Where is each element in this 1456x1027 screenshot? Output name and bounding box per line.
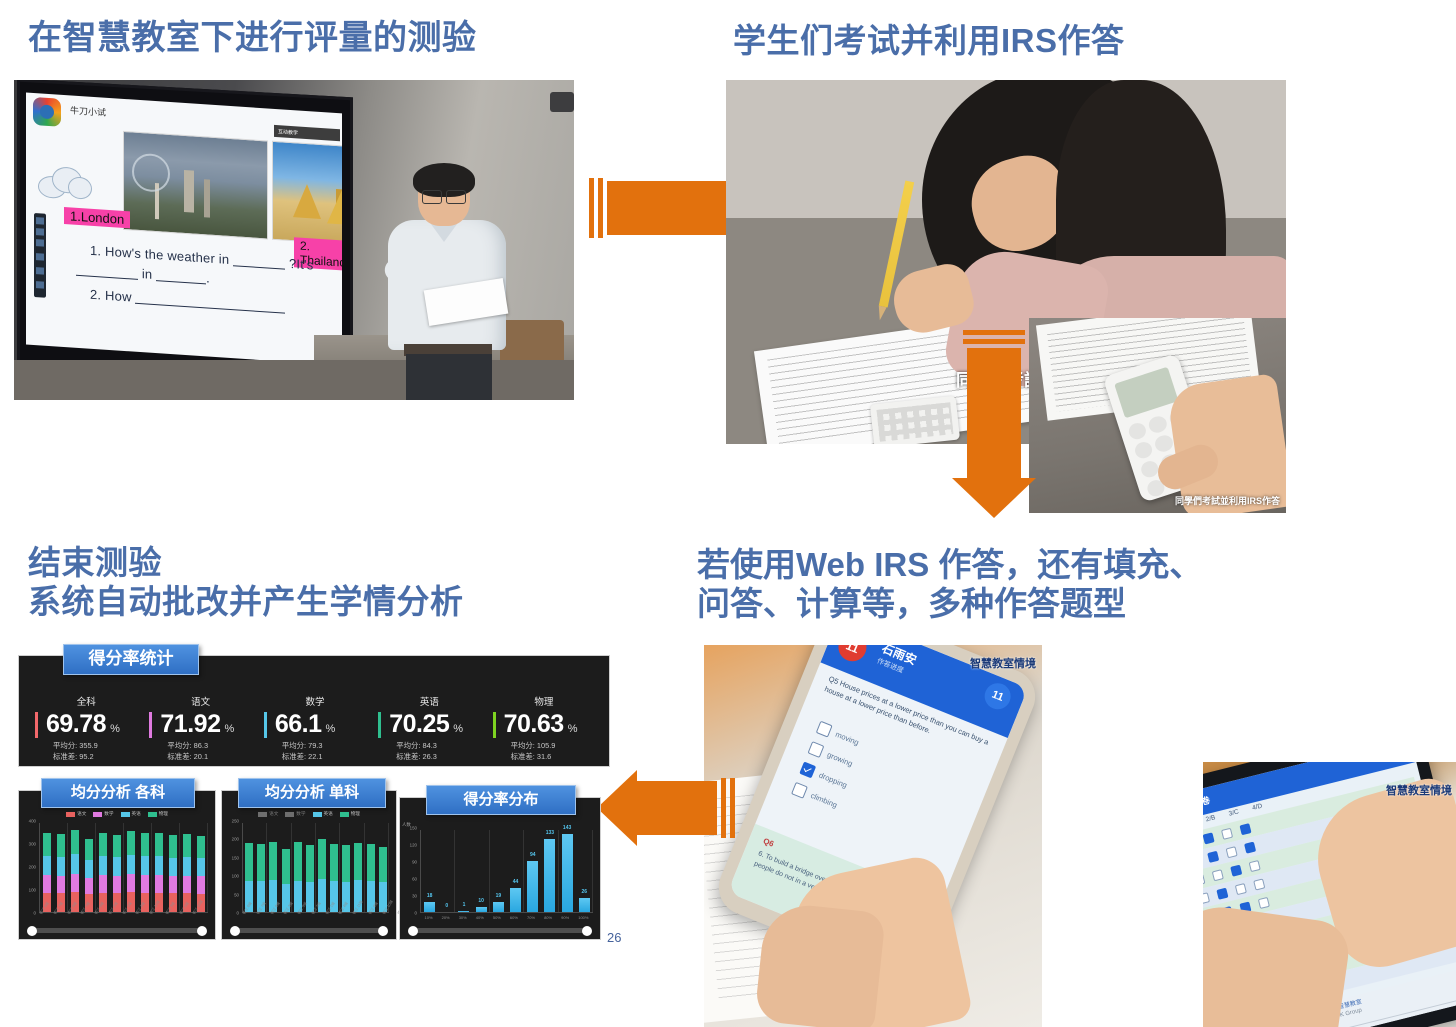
bar-value-label: 19: [496, 893, 502, 899]
bar-segment: [85, 878, 93, 894]
stat-subject: 数学: [258, 694, 372, 708]
dashboard-title: 得分率统计: [63, 644, 199, 675]
question-1-line-b: in .: [76, 262, 210, 286]
arrow-down-right: [952, 330, 1036, 518]
bar-segment: [127, 855, 135, 874]
bar-segment: [183, 857, 191, 876]
legend-label: 语文: [77, 811, 86, 817]
stat-color-tick: [378, 712, 381, 738]
stat-value-row: 71.92%: [143, 710, 257, 739]
answer-checked-icon[interactable]: [1239, 823, 1251, 835]
option-label: growing: [826, 750, 854, 768]
slider-handle-left[interactable]: [408, 926, 418, 936]
legend-swatch: [93, 812, 102, 817]
option-label: dropping: [818, 770, 849, 789]
slider-handle-right[interactable]: [378, 926, 388, 936]
bar-segment: [197, 836, 205, 858]
legend-item[interactable]: 英语: [313, 811, 333, 817]
legend-item[interactable]: 语文: [66, 811, 86, 817]
range-slider[interactable]: [412, 928, 588, 933]
bar-value-label: 18: [427, 893, 433, 899]
stat-rate: 70.25: [389, 710, 449, 739]
slide-canvas: 在智慧教室下进行评量的测验 学生们考试并利用IRS作答 结束测验 系统自动批改并…: [0, 0, 1456, 1027]
y-tick-label: 150: [232, 855, 239, 860]
y-tick-label: 50: [234, 892, 239, 897]
bar-value-label: 94: [530, 852, 536, 858]
histogram-bar: 143: [562, 834, 573, 912]
photo-clicker-caption: 同學們考試並利用IRS作答: [1175, 494, 1280, 507]
legend-label: 英语: [324, 811, 333, 817]
chart-panel-single-subject: 均分分析 单科 语文数学英语物理 050100150200250 初三 6班初三…: [221, 790, 397, 940]
y-tick-label: 120: [410, 843, 417, 848]
stat-color-tick: [493, 712, 496, 738]
bar-value-label: 1: [463, 902, 466, 908]
bar-series: [243, 823, 389, 912]
bar-segment: [155, 856, 163, 875]
bar-segment: [367, 844, 375, 881]
answer-checkbox-icon[interactable]: [1258, 896, 1270, 908]
column-header: 2/B: [1205, 814, 1216, 823]
page-number: 26: [607, 930, 621, 945]
legend-item[interactable]: 英语: [121, 811, 141, 817]
page-title-top-left: 在智慧教室下进行评量的测验: [28, 18, 477, 58]
board-toolbar[interactable]: [34, 213, 46, 298]
next-question-number: Q6: [762, 836, 775, 848]
chart-legend[interactable]: 语文数学英语物理: [19, 811, 215, 817]
legend-swatch: [340, 812, 349, 817]
stat-detail: 平均分: 79.3标准差: 22.1: [282, 741, 372, 762]
arrow-tail-bars: [721, 778, 735, 838]
bar-segment: [99, 833, 107, 856]
board-title: 牛刀小试: [70, 103, 106, 118]
stat-rate: 66.1: [275, 710, 322, 739]
answer-checked-icon[interactable]: [1230, 864, 1242, 876]
arrow-tail-bars: [589, 178, 603, 238]
bar-segment: [257, 844, 265, 881]
stat-percent-symbol: %: [568, 723, 578, 735]
histogram-bar: 94: [527, 861, 538, 912]
y-tick-label: 200: [232, 837, 239, 842]
slider-handle-left[interactable]: [27, 926, 37, 936]
bar: [354, 823, 362, 912]
bar-segment: [294, 842, 302, 880]
bar-segment: [197, 876, 205, 893]
answer-checkbox-icon[interactable]: [1203, 892, 1210, 904]
bar-segment: [43, 875, 51, 893]
histogram-bar: 10: [476, 907, 487, 912]
bar-segment: [169, 835, 177, 858]
bar: [71, 823, 79, 912]
legend-item[interactable]: 物理: [340, 811, 360, 817]
bar-value-label: 133: [546, 830, 554, 836]
bar-segment: [43, 856, 51, 875]
bar: [269, 823, 277, 912]
histogram-bar: 18: [424, 902, 435, 912]
bar: [141, 823, 149, 912]
photo-classroom-teacher: 牛刀小试 互动教学 1.London 2. Thailand 1. How's …: [14, 80, 574, 400]
bar-segment: [183, 876, 191, 894]
arrow-shaft: [637, 781, 717, 835]
option-label: moving: [834, 730, 860, 748]
chart-title-distribution: 得分率分布: [426, 785, 576, 815]
blank-4: [135, 303, 285, 314]
bar-segment: [85, 839, 93, 861]
stat-rate: 69.78: [46, 710, 106, 739]
y-tick-label: 100: [29, 888, 36, 893]
legend-swatch: [66, 812, 75, 817]
bar-segment: [141, 875, 149, 893]
bar-segment: [57, 857, 65, 876]
plot-area: [242, 823, 389, 913]
x-tick-label: 70%: [527, 915, 535, 925]
question-2-line: 2. How: [90, 287, 285, 315]
legend-label: 物理: [159, 811, 168, 817]
stat-subject: 英语: [372, 694, 486, 708]
stat-color-tick: [35, 712, 38, 738]
bar-series: [40, 823, 208, 912]
bar: [257, 823, 265, 912]
histogram-bar: 19: [493, 902, 504, 912]
bar-segment: [269, 842, 277, 880]
bar-segment: [99, 856, 107, 875]
stat-percent-symbol: %: [453, 723, 463, 735]
x-tick-label: 50%: [493, 915, 501, 925]
legend-swatch: [313, 812, 322, 817]
y-tick-label: 100: [232, 874, 239, 879]
legend-label: 英语: [132, 811, 141, 817]
option-label: climbing: [809, 791, 838, 810]
x-axis-labels: 初三 6班初三 7班初三 8班初三 7班初三 9班初三 2班初三 1班初三 4班…: [39, 913, 208, 927]
bar-value-label: 0: [445, 903, 448, 909]
x-tick-label: 90%: [561, 915, 569, 925]
stat-value-row: 70.63%: [487, 710, 601, 739]
column-header: 4/D: [1251, 803, 1263, 812]
answer-checkbox-icon[interactable]: [1249, 860, 1261, 872]
y-axis-labels: 050100150200250: [222, 821, 240, 913]
stat-list: 全科69.78%平均分: 355.9标准差: 95.2语文71.92%平均分: …: [29, 694, 601, 762]
blank-2: [76, 275, 138, 280]
stat-value-row: 69.78%: [29, 710, 143, 739]
page-title-bottom-right: 若使用Web IRS 作答，还有填充、 问答、计算等，多种作答题型: [697, 546, 1202, 624]
page-title-top-right: 学生们考试并利用IRS作答: [733, 22, 1125, 61]
legend-item[interactable]: 物理: [148, 811, 168, 817]
thumb-tapping: [754, 901, 886, 1027]
blank-3: [156, 280, 206, 284]
photo-quiz-watermark: 智慧教室情境: [970, 655, 1036, 671]
bar: [113, 823, 121, 912]
answer-checked-icon[interactable]: [1216, 887, 1228, 899]
answer-checked-icon[interactable]: [1203, 832, 1215, 844]
bar-segment: [71, 830, 79, 854]
bar: [57, 823, 65, 912]
arrow-tail-bars: [963, 330, 1025, 344]
answer-checkbox-icon[interactable]: [1225, 846, 1237, 858]
stat-block: 物理70.63%平均分: 105.9标准差: 31.6: [487, 694, 601, 762]
bar-value-label: 10: [478, 898, 484, 904]
y-tick-label: 150: [410, 826, 417, 831]
bar-segment: [57, 876, 65, 894]
bar-segment: [379, 847, 387, 882]
checkbox-icon[interactable]: [791, 782, 808, 799]
chart-title-all-subjects: 均分分析 各科: [41, 778, 195, 808]
stat-rate: 71.92: [160, 710, 220, 739]
arrow-shaft: [967, 348, 1021, 478]
bar-segment: [330, 844, 338, 881]
photo-thailand: [272, 141, 342, 250]
bar: [169, 823, 177, 912]
histogram-bars: 18011019449413314326: [421, 830, 593, 912]
histogram-bar: 44: [510, 888, 521, 912]
irs-clicker-device: [870, 396, 960, 444]
tag-london: 1.London: [64, 207, 130, 228]
stat-detail: 平均分: 86.3标准差: 20.1: [167, 741, 257, 762]
hand-holding-clicker: [1166, 373, 1286, 513]
answer-checked-icon[interactable]: [1244, 841, 1256, 853]
stat-subject: 全科: [29, 694, 143, 708]
legend-swatch: [148, 812, 157, 817]
bar: [197, 823, 205, 912]
y-tick-label: 200: [29, 865, 36, 870]
bar-value-label: 26: [582, 889, 588, 895]
legend-item[interactable]: 语文: [258, 811, 278, 817]
bar: [306, 823, 314, 912]
x-axis-labels: 10%20%30%40%50%60%70%80%90%100%: [420, 915, 593, 925]
photo-phone-quiz: 11 石雨安 作答进度 11 Q5 House prices at a lowe…: [704, 645, 1042, 1027]
bar-segment: [141, 833, 149, 856]
legend-item[interactable]: 数学: [285, 811, 305, 817]
bar: [43, 823, 51, 912]
chart-title-single-subject: 均分分析 单科: [238, 778, 386, 808]
bar-segment: [71, 874, 79, 893]
stat-subject: 物理: [487, 694, 601, 708]
board-tab-label: 互动教学: [278, 128, 298, 136]
stat-color-tick: [264, 712, 267, 738]
bar: [183, 823, 191, 912]
bar-segment: [318, 839, 326, 879]
range-slider[interactable]: [234, 928, 384, 933]
y-tick-label: 30: [412, 894, 417, 899]
histogram-bar: 26: [579, 898, 590, 912]
photo-london: [123, 131, 268, 240]
clicker-lcd: [1114, 367, 1178, 419]
legend-label: 数学: [296, 811, 305, 817]
bar-segment: [141, 856, 149, 875]
stat-detail: 平均分: 84.3标准差: 26.3: [396, 741, 486, 762]
x-tick-label: 30%: [459, 915, 467, 925]
stat-subject: 语文: [143, 694, 257, 708]
stat-value-row: 70.25%: [372, 710, 486, 739]
bar-segment: [155, 875, 163, 893]
stat-block: 数学66.1%平均分: 79.3标准差: 22.1: [258, 694, 372, 762]
photo-phone-answer-card: 答题卡 答题卷 1/A 2/B 3/C 4/D Q1Q2Q3Q4Q5Q6Q7Q8…: [1203, 762, 1456, 1027]
bar: [342, 823, 350, 912]
bar-value-label: 143: [563, 825, 571, 831]
bar-segment: [342, 845, 350, 882]
bar-segment: [155, 833, 163, 856]
column-header: 3/C: [1228, 808, 1240, 817]
legend-swatch: [258, 812, 267, 817]
bar-segment: [197, 858, 205, 876]
range-slider[interactable]: [31, 928, 203, 933]
cloud-icon: [38, 163, 92, 201]
answer-checkbox-icon[interactable]: [1235, 883, 1247, 895]
x-tick-label: 80%: [544, 915, 552, 925]
bar-segment: [169, 876, 177, 893]
bar-segment: [183, 834, 191, 857]
y-tick-label: 300: [29, 842, 36, 847]
plot-area: 18011019449413314326: [420, 830, 593, 913]
stat-percent-symbol: %: [110, 723, 120, 735]
bar-segment: [99, 875, 107, 893]
bar-segment: [169, 858, 177, 876]
bar-segment: [113, 835, 121, 858]
stat-percent-symbol: %: [325, 723, 335, 735]
photo-card-watermark: 智慧教室情境: [1386, 782, 1452, 798]
y-tick-label: 0: [237, 911, 239, 916]
stat-detail: 平均分: 355.9标准差: 95.2: [53, 741, 143, 762]
bar: [127, 823, 135, 912]
y-tick-label: 0: [415, 911, 417, 916]
checkbox-icon[interactable]: [816, 721, 833, 738]
bar: [99, 823, 107, 912]
legend-label: 物理: [351, 811, 360, 817]
chart-panel-distribution: 得分率分布 人数 0306090120150 18011019449413314…: [399, 797, 601, 940]
question-1-in: in: [142, 266, 153, 282]
app-logo-icon: [33, 97, 61, 127]
stat-block: 语文71.92%平均分: 86.3标准差: 20.1: [143, 694, 257, 762]
arrow-head: [952, 478, 1036, 518]
legend-swatch: [285, 812, 294, 817]
bar-segment: [71, 854, 79, 874]
x-tick-label: 60%: [510, 915, 518, 925]
arrow-left-bottom: [597, 770, 735, 846]
stat-value-row: 66.1%: [258, 710, 372, 739]
histogram-bar: 133: [544, 839, 555, 912]
answer-checkbox-icon[interactable]: [1253, 878, 1265, 890]
bar-segment: [113, 876, 121, 893]
score-rate-dashboard: 得分率统计 全科69.78%平均分: 355.9标准差: 95.2语文71.92…: [18, 655, 610, 767]
bar: [85, 823, 93, 912]
y-tick-label: 90: [412, 860, 417, 865]
chart-legend[interactable]: 语文数学英语物理: [222, 811, 396, 817]
slider-handle-right[interactable]: [197, 926, 207, 936]
question-1-tail: ?It's: [289, 256, 313, 273]
stat-percent-symbol: %: [224, 723, 234, 735]
answer-checkbox-icon[interactable]: [1212, 869, 1224, 881]
y-axis-labels: 0100200300400: [19, 821, 37, 913]
y-tick-label: 400: [29, 819, 36, 824]
bar-segment: [282, 849, 290, 884]
checkbox-checked-icon[interactable]: [799, 761, 816, 778]
bar-value-label: 44: [513, 879, 519, 885]
bar-segment: [57, 834, 65, 857]
blank-1: [233, 265, 285, 269]
bar: [379, 823, 387, 912]
answer-checkbox-icon[interactable]: [1203, 873, 1205, 885]
whiteboard-screen: 牛刀小试 互动教学 1.London 2. Thailand 1. How's …: [26, 92, 342, 365]
arrow-head: [597, 770, 637, 846]
bar: [318, 823, 326, 912]
wall-speaker: [550, 92, 574, 112]
slider-handle-right[interactable]: [582, 926, 592, 936]
photo-irs-clicker: 同學們考試並利用IRS作答: [1029, 318, 1286, 513]
glasses-icon: [422, 190, 466, 202]
x-tick-label: 10%: [425, 915, 433, 925]
progress-badge: 11: [981, 679, 1015, 713]
x-axis-labels: 初三 6班初三 7班初三 8班初三 3班初三 9班初三 2班初三 1班初三 4班…: [242, 913, 389, 927]
bar-segment: [85, 860, 93, 877]
bar: [294, 823, 302, 912]
stat-detail: 平均分: 105.9标准差: 31.6: [511, 741, 601, 762]
stat-block: 英语70.25%平均分: 84.3标准差: 26.3: [372, 694, 486, 762]
y-tick-label: 0: [34, 911, 36, 916]
x-tick-label: 20%: [442, 915, 450, 925]
bar-segment: [127, 831, 135, 855]
bar-segment: [43, 833, 51, 856]
legend-label: 数学: [104, 811, 113, 817]
x-tick-label: 40%: [476, 915, 484, 925]
bar: [155, 823, 163, 912]
bar-segment: [245, 843, 253, 881]
chart-panel-all-subjects: 均分分析 各科 语文数学英语物理 0100200300400 初三 6班初三 7…: [18, 790, 216, 940]
y-axis-labels: 0306090120150: [400, 828, 418, 913]
plot-area: [39, 823, 208, 913]
legend-item[interactable]: 数学: [93, 811, 113, 817]
legend-swatch: [121, 812, 130, 817]
stat-rate: 70.63: [504, 710, 564, 739]
checkbox-icon[interactable]: [807, 741, 824, 758]
y-tick-label: 60: [412, 877, 417, 882]
legend-label: 语文: [269, 811, 278, 817]
bar: [330, 823, 338, 912]
bar-segment: [306, 845, 314, 882]
answer-checked-icon[interactable]: [1207, 850, 1219, 862]
interactive-whiteboard: 牛刀小试 互动教学 1.London 2. Thailand 1. How's …: [17, 80, 353, 383]
bar-segment: [113, 857, 121, 875]
board-tab: 互动教学: [274, 125, 340, 141]
bar-segment: [127, 874, 135, 892]
bar: [282, 823, 290, 912]
stat-color-tick: [149, 712, 152, 738]
question-2-text: 2. How: [90, 287, 132, 305]
bar: [245, 823, 253, 912]
histogram-bar: 1: [458, 911, 469, 912]
page-title-bottom-left: 结束测验 系统自动批改并产生学情分析: [28, 544, 464, 622]
slider-handle-left[interactable]: [230, 926, 240, 936]
x-tick-label: 100%: [578, 915, 588, 925]
teacher-figure: [382, 168, 512, 400]
y-tick-label: 250: [232, 819, 239, 824]
answer-checkbox-icon[interactable]: [1221, 827, 1233, 839]
stat-block: 全科69.78%平均分: 355.9标准差: 95.2: [29, 694, 143, 762]
bar-segment: [354, 843, 362, 881]
bar: [367, 823, 375, 912]
question-count-badge: 11: [834, 645, 870, 665]
